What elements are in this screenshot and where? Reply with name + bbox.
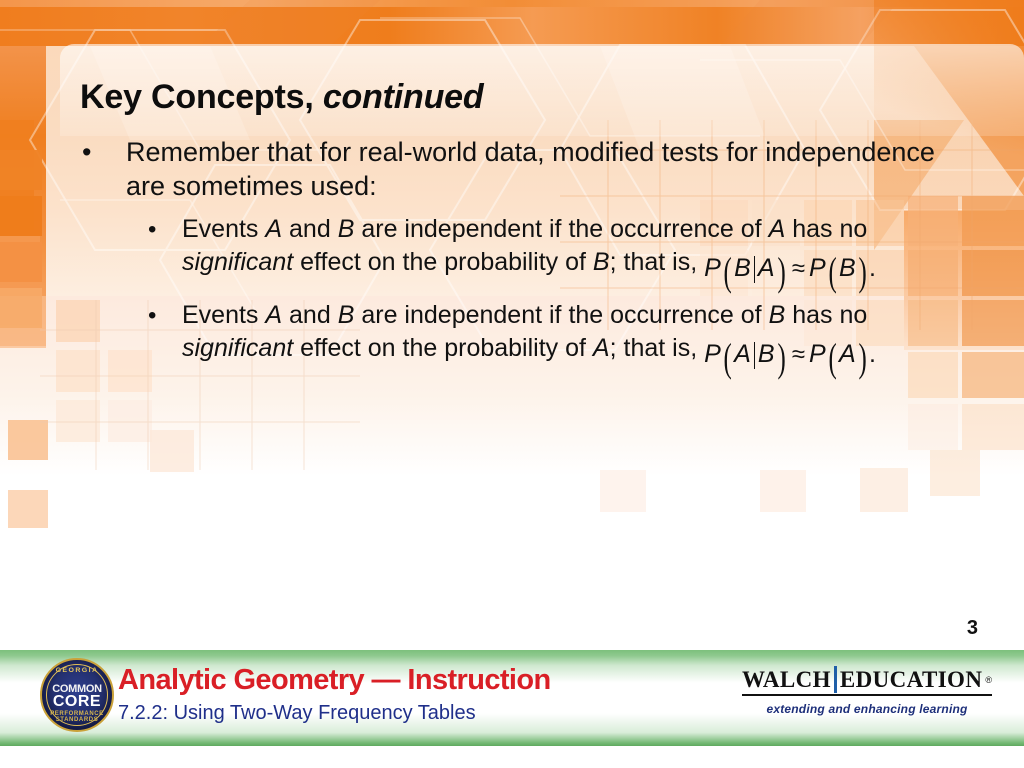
- text-tail: effect on the probability of: [300, 334, 586, 362]
- formula-p1: P: [704, 340, 721, 368]
- variable-subject: A: [769, 215, 786, 243]
- seal-bottom-text: PERFORMANCE STANDARDS: [42, 711, 112, 723]
- formula-conditional-probability: P(BA)≈P(B).: [704, 252, 876, 285]
- formula-inner-left: B: [734, 254, 751, 282]
- footer-lesson-title: 7.2.2: Using Two-Way Frequency Tables: [118, 702, 476, 725]
- walch-education-logo: WALCH EDUCATION ® extending and enhancin…: [742, 666, 992, 726]
- page-number: 3: [967, 617, 978, 640]
- page-title: Key Concepts, continued: [80, 78, 483, 117]
- sub-bullet-text: Events A and B are independent if the oc…: [182, 213, 972, 285]
- formula-inner-right: B: [758, 340, 775, 368]
- slide-footer: GEORGIA COMMON CORE PERFORMANCE STANDARD…: [0, 650, 1024, 746]
- sub-bullet-text: Events A and B are independent if the oc…: [182, 299, 972, 371]
- text-tail: effect on the probability of: [300, 248, 586, 276]
- variable-b: B: [338, 301, 355, 329]
- page-title-emphasis: continued: [323, 78, 484, 116]
- formula-period: .: [869, 340, 876, 368]
- variable-a: A: [265, 301, 282, 329]
- text-that-is: ; that is,: [610, 248, 698, 276]
- walch-wordmark: WALCH: [742, 667, 831, 693]
- text-mid: are independent if the occurrence of: [361, 215, 761, 243]
- approx-icon: ≈: [792, 341, 805, 368]
- given-bar-icon: [754, 256, 755, 283]
- text-has-no: has no: [792, 301, 867, 329]
- text-lead: Events: [182, 215, 258, 243]
- variable-subject: B: [769, 301, 786, 329]
- text-and: and: [289, 301, 331, 329]
- formula-conditional-probability: P(AB)≈P(A).: [704, 338, 876, 371]
- formula-inner-left: A: [734, 340, 751, 368]
- text-and: and: [289, 215, 331, 243]
- variable-object: B: [593, 248, 610, 276]
- bullet-marker: •: [78, 135, 126, 169]
- slide-body: • Remember that for real-world data, mod…: [78, 135, 978, 385]
- list-item: • Events A and B are independent if the …: [148, 299, 978, 371]
- page-title-main: Key Concepts,: [80, 78, 314, 116]
- bullet-level1-text: Remember that for real-world data, modif…: [126, 135, 936, 203]
- variable-object: A: [593, 334, 610, 362]
- variable-b: B: [338, 215, 355, 243]
- seal-top-text: GEORGIA: [42, 667, 112, 673]
- text-emphasis: significant: [182, 248, 293, 276]
- education-wordmark: EDUCATION: [840, 667, 982, 693]
- text-that-is: ; that is,: [610, 334, 698, 362]
- formula-p2: P: [809, 254, 826, 282]
- sub-bullet-group: • Events A and B are independent if the …: [148, 213, 978, 371]
- walch-tagline: extending and enhancing learning: [742, 702, 992, 716]
- formula-inner-right: A: [758, 254, 775, 282]
- approx-icon: ≈: [792, 255, 805, 282]
- formula-period: .: [869, 254, 876, 282]
- seal-line2: CORE: [42, 693, 112, 711]
- bullet-marker: •: [148, 213, 182, 246]
- text-has-no: has no: [792, 215, 867, 243]
- formula-p2: P: [809, 340, 826, 368]
- footer-course-title: Analytic Geometry — Instruction: [118, 664, 551, 697]
- variable-a: A: [265, 215, 282, 243]
- formula-outer: A: [839, 340, 856, 368]
- walch-underline: [742, 694, 992, 696]
- georgia-common-core-seal-icon: GEORGIA COMMON CORE PERFORMANCE STANDARD…: [40, 658, 114, 732]
- text-emphasis: significant: [182, 334, 293, 362]
- text-mid: are independent if the occurrence of: [361, 301, 761, 329]
- list-item: • Events A and B are independent if the …: [148, 213, 978, 285]
- slide: Key Concepts, continued • Remember that …: [0, 0, 1024, 768]
- bullet-level1: • Remember that for real-world data, mod…: [78, 135, 978, 203]
- text-lead: Events: [182, 301, 258, 329]
- bullet-marker: •: [148, 299, 182, 332]
- formula-p1: P: [704, 254, 721, 282]
- walch-swoosh-icon: [834, 666, 837, 693]
- given-bar-icon: [754, 342, 755, 369]
- registered-mark-icon: ®: [985, 675, 992, 685]
- formula-outer: B: [839, 254, 856, 282]
